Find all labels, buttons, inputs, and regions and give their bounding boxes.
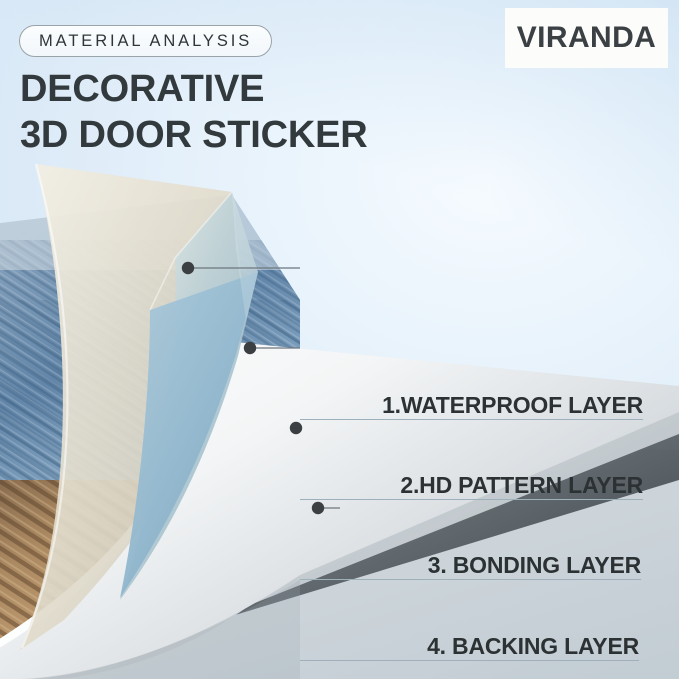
- callout-dot-3: [290, 422, 302, 434]
- callout-label-2: 2.HD PATTERN LAYER: [300, 466, 643, 500]
- callout-label-4: 4. BACKING LAYER: [300, 627, 639, 661]
- title-line-2: 3D DOOR STICKER: [20, 112, 367, 158]
- callout-dot-2: [244, 342, 256, 354]
- eyebrow-text: MATERIAL ANALYSIS: [39, 32, 252, 51]
- callout-label-3-text: 3. BONDING LAYER: [428, 552, 641, 579]
- callout-label-1: 1.WATERPROOF LAYER: [300, 386, 643, 420]
- brand-logo: VIRANDA: [505, 8, 668, 68]
- callout-dot-1: [182, 262, 194, 274]
- title-line-1: DECORATIVE: [20, 68, 264, 110]
- callout-label-3: 3. BONDING LAYER: [300, 546, 641, 580]
- callout-dot-4: [312, 502, 324, 514]
- page-title: DECORATIVE 3D DOOR STICKER: [20, 66, 367, 158]
- eyebrow-badge: MATERIAL ANALYSIS: [19, 25, 272, 57]
- callout-label-4-text: 4. BACKING LAYER: [427, 633, 639, 660]
- brand-logo-text: VIRANDA: [517, 21, 656, 55]
- callout-label-2-text: 2.HD PATTERN LAYER: [400, 472, 643, 499]
- callout-label-1-text: 1.WATERPROOF LAYER: [382, 392, 643, 419]
- sticker-illustration: 1.WATERPROOF LAYER 2.HD PATTERN LAYER 3.…: [0, 150, 679, 679]
- poster-canvas: 1.WATERPROOF LAYER 2.HD PATTERN LAYER 3.…: [0, 0, 679, 679]
